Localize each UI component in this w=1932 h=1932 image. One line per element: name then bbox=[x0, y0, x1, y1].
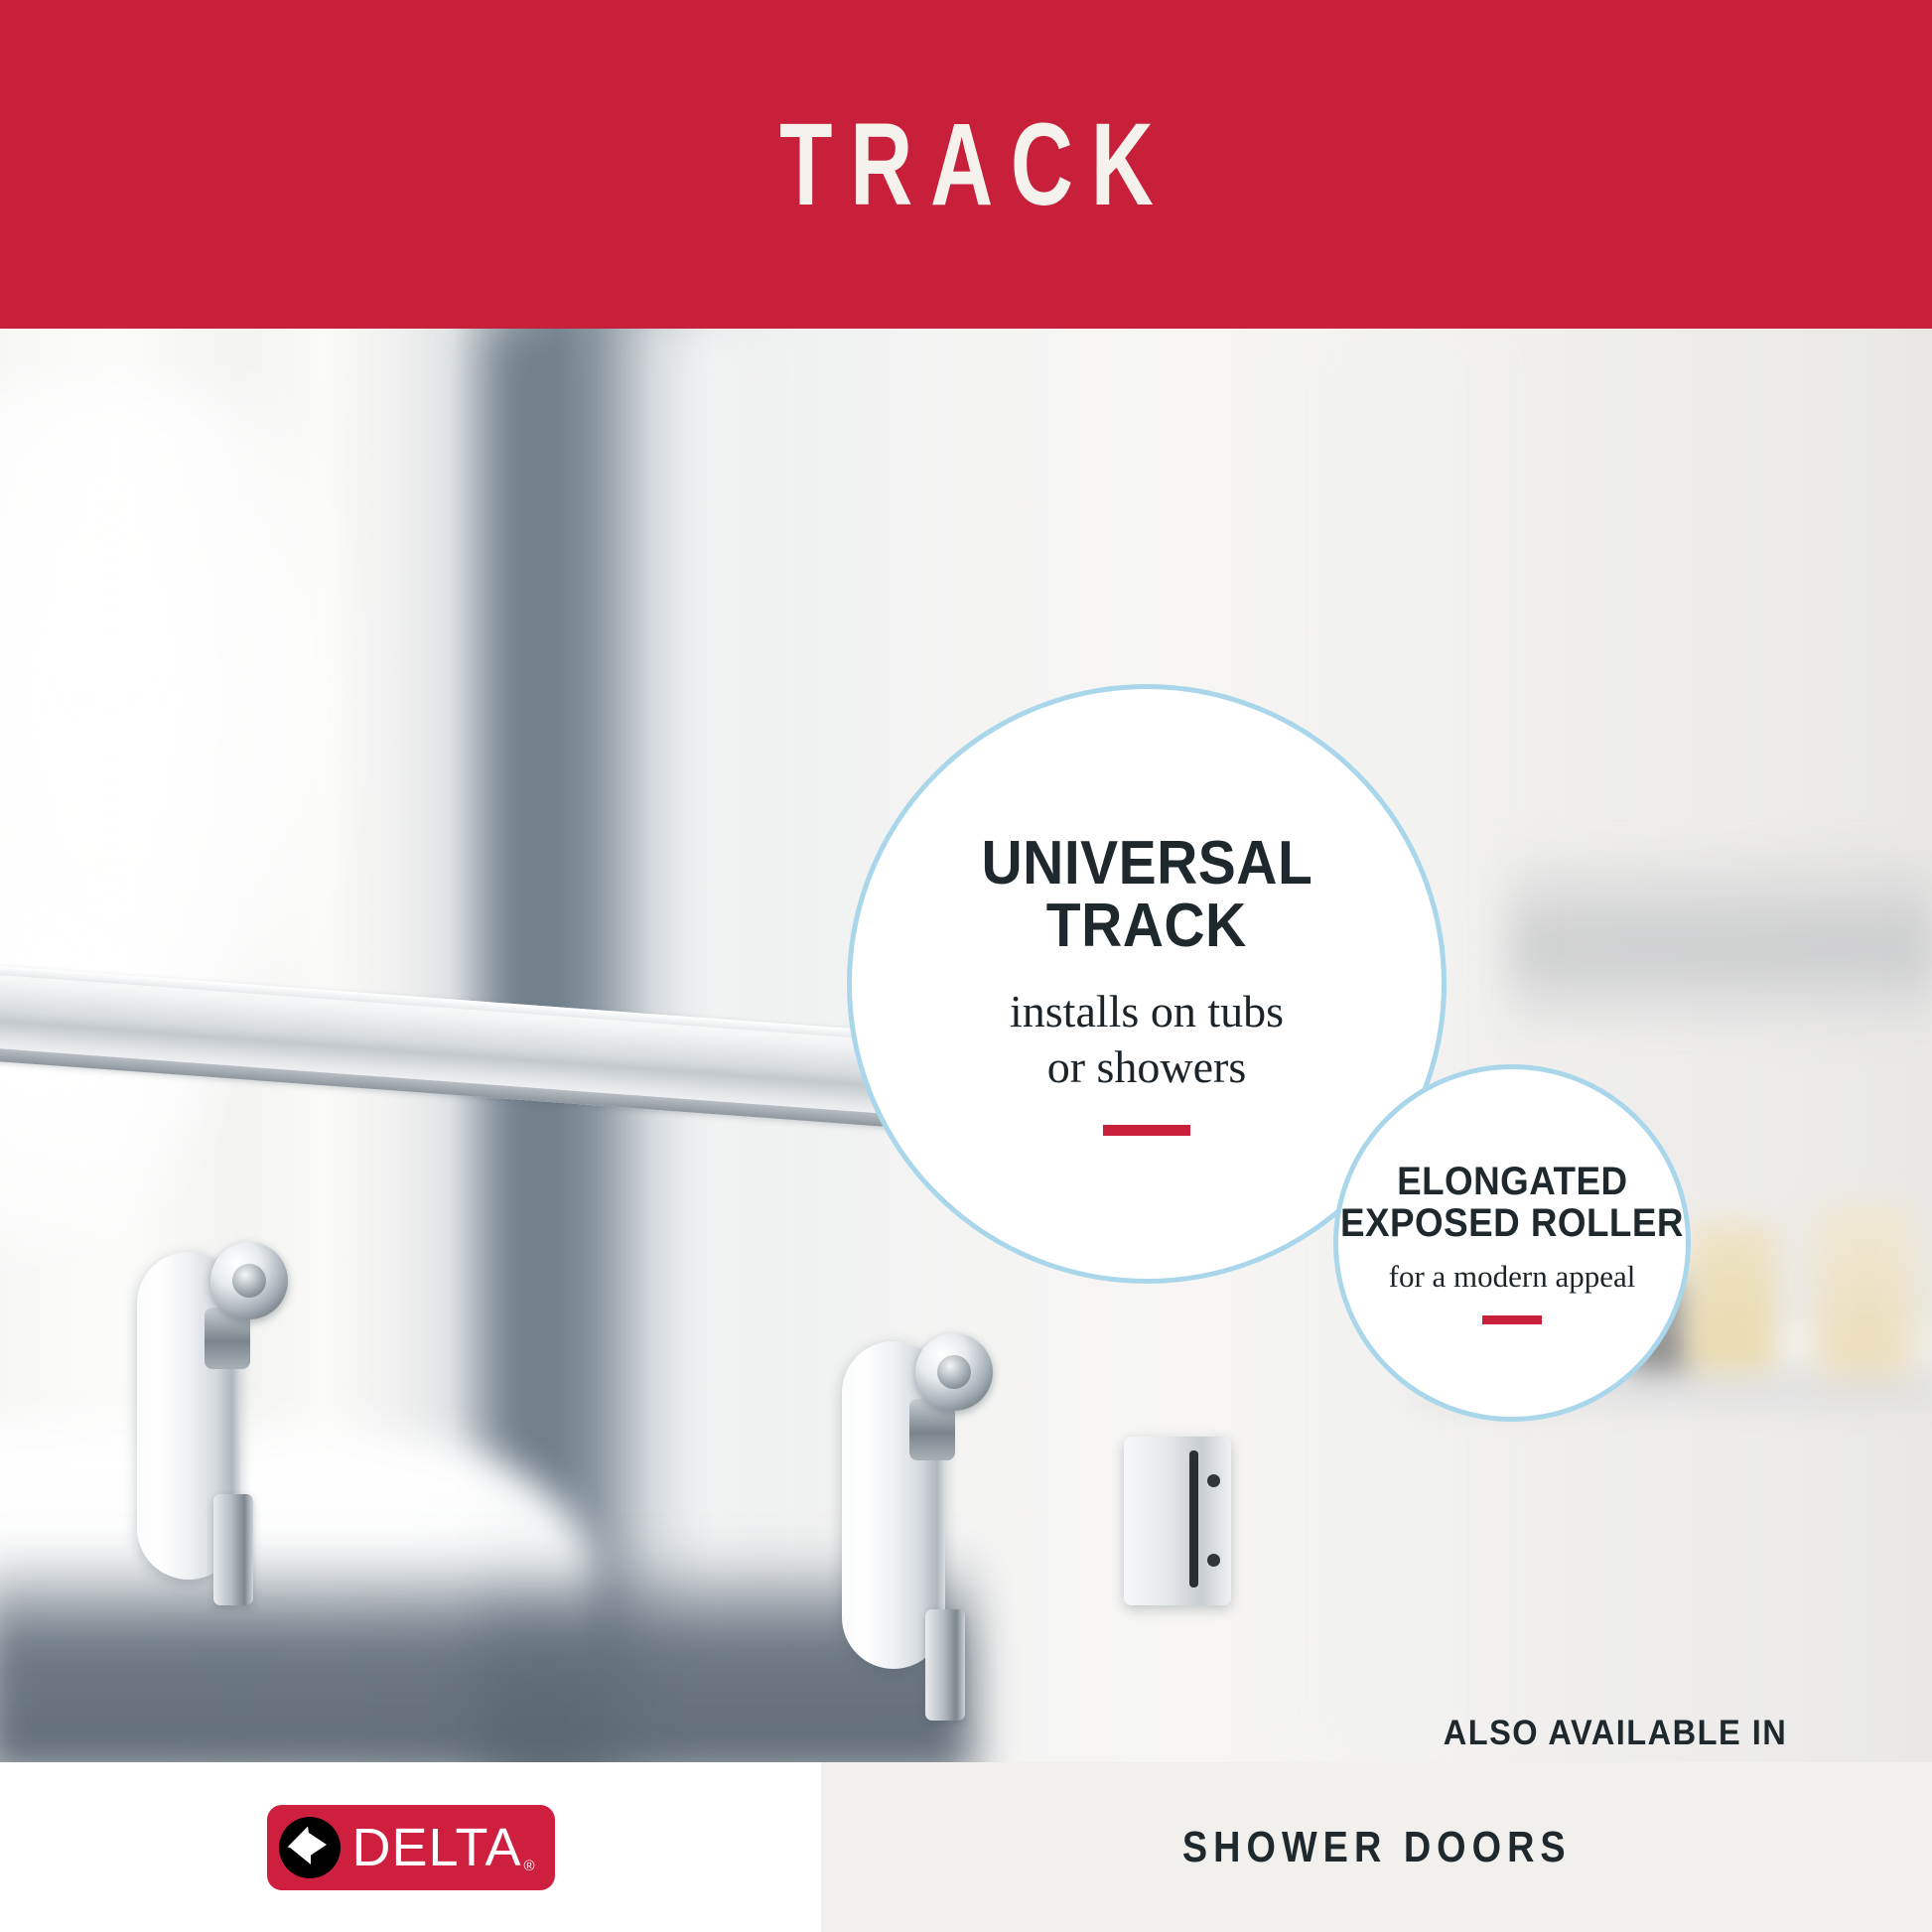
also-available-in-title: ALSO AVAILABLE IN bbox=[1436, 1714, 1796, 1753]
end-cap-slot bbox=[1189, 1450, 1198, 1587]
roller-guide-left bbox=[213, 1494, 253, 1605]
roller-wheel-right bbox=[915, 1333, 993, 1411]
delta-logo[interactable]: DELTA ® bbox=[267, 1805, 555, 1890]
roller-wheel-left bbox=[210, 1242, 288, 1319]
end-cap-screw-bottom bbox=[1207, 1554, 1220, 1567]
footer-brand-area: DELTA ® bbox=[0, 1762, 821, 1932]
footer-tagline: SHOWER DOORS bbox=[1182, 1823, 1572, 1872]
roller-guide-right bbox=[925, 1609, 965, 1721]
also-available-in-block: ALSO AVAILABLE IN BRUSHED NICKEL MATTE B… bbox=[1422, 1714, 1809, 1762]
delta-wordmark: DELTA bbox=[352, 1821, 522, 1874]
roller-hub-left bbox=[232, 1264, 266, 1298]
callout-subtext-line2: or showers bbox=[1047, 1039, 1247, 1095]
roller-hub-right bbox=[937, 1355, 971, 1389]
callout-headline-line1: UNIVERSAL bbox=[981, 832, 1312, 896]
callout-accent-dash bbox=[1103, 1125, 1190, 1136]
callout-subtext-line1: installs on tubs bbox=[1010, 984, 1284, 1039]
footer-category-area: SHOWER DOORS bbox=[821, 1762, 1932, 1932]
track-end-cap bbox=[1124, 1437, 1231, 1605]
callout-elongated-exposed-roller: ELONGATED EXPOSED ROLLER for a modern ap… bbox=[1333, 1064, 1691, 1422]
callout2-subtext: for a modern appeal bbox=[1389, 1258, 1636, 1296]
callout-headline-line2: TRACK bbox=[1046, 895, 1247, 958]
callout2-headline-line1: ELONGATED bbox=[1397, 1162, 1627, 1202]
delta-triangle-icon bbox=[279, 1817, 341, 1878]
header-banner: TRACK bbox=[0, 0, 1932, 329]
footer-bar: DELTA ® SHOWER DOORS bbox=[0, 1762, 1932, 1932]
delta-mark-shape-b bbox=[289, 1847, 311, 1864]
product-marketing-image: TRACK bbox=[0, 0, 1932, 1932]
registered-trademark-icon: ® bbox=[524, 1858, 535, 1874]
end-cap-screw-top bbox=[1207, 1474, 1220, 1487]
product-photo: UNIVERSAL TRACK installs on tubs or show… bbox=[0, 329, 1932, 1762]
page-title: TRACK bbox=[761, 106, 1171, 223]
delta-mark-shape-c bbox=[309, 1833, 327, 1857]
callout2-accent-dash bbox=[1482, 1315, 1542, 1324]
callout2-headline-line2: EXPOSED ROLLER bbox=[1340, 1203, 1684, 1244]
